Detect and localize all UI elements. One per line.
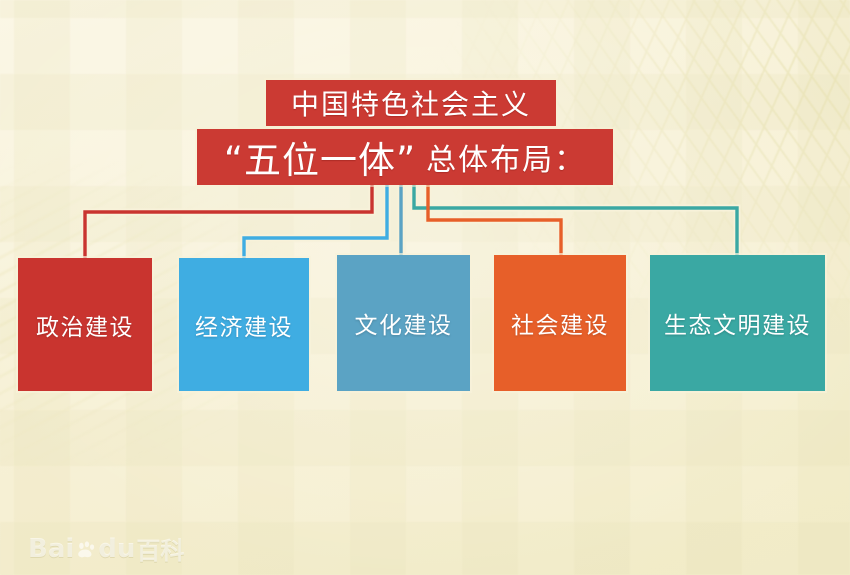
node-label-ecological: 生态文明建设	[664, 306, 811, 340]
node-box-economic[interactable]: 经济建设	[179, 258, 309, 391]
paw-icon	[75, 538, 97, 560]
node-box-social[interactable]: 社会建设	[494, 255, 626, 391]
title-line-1-text: 中国特色社会主义	[291, 83, 531, 123]
watermark-text-du: du	[98, 534, 135, 564]
watermark-text-cn: 百科	[136, 531, 184, 566]
title-banner-line-2: “五位一体” 总体布局：	[197, 129, 613, 185]
title-line-2-tail-text: 总体布局：	[426, 135, 586, 179]
node-box-cultural[interactable]: 文化建设	[337, 255, 470, 391]
node-box-ecological[interactable]: 生态文明建设	[650, 255, 825, 391]
node-label-economic: 经济建设	[195, 308, 293, 342]
node-label-political: 政治建设	[36, 308, 134, 342]
watermark-text-latin: Bai	[28, 534, 74, 564]
node-label-cultural: 文化建设	[355, 306, 453, 340]
title-banner-line-1: 中国特色社会主义	[266, 80, 556, 126]
node-label-social: 社会建设	[511, 306, 609, 340]
baidu-baike-watermark: Bai du 百科	[28, 531, 184, 566]
title-block: 中国特色社会主义 “五位一体” 总体布局：	[0, 0, 850, 200]
node-box-political[interactable]: 政治建设	[18, 258, 152, 391]
title-line-2-quoted-text: “五位一体”	[224, 130, 416, 184]
